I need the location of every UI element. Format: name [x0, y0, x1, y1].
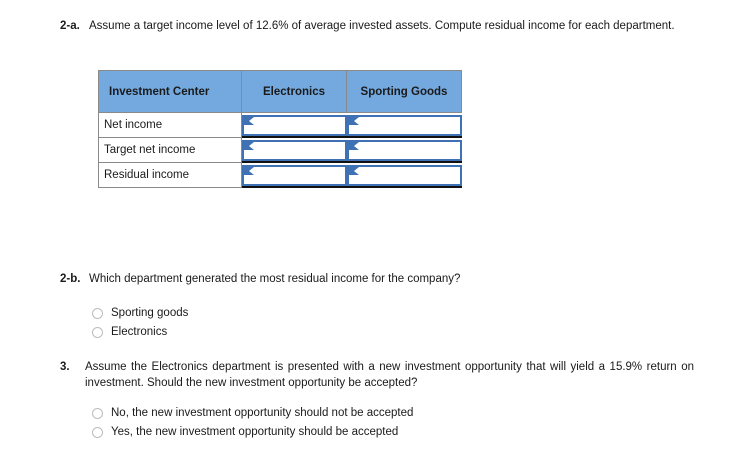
question-3: 3. Assume the Electronics department is …: [60, 360, 694, 391]
table-row: Net income: [99, 113, 462, 138]
options-group-3: No, the new investment opportunity shoul…: [92, 404, 413, 442]
question-2b: 2-b. Which department generated the most…: [60, 272, 530, 288]
column-header-sporting-goods: Sporting Goods: [347, 71, 462, 113]
input-net-income-electronics[interactable]: [252, 117, 343, 134]
input-box[interactable]: [347, 140, 462, 161]
option-label: Electronics: [111, 325, 167, 340]
input-box[interactable]: [242, 140, 347, 161]
row-label-target-net-income: Target net income: [99, 138, 242, 163]
question-2a-number: 2-a.: [60, 19, 89, 34]
radio-button-icon[interactable]: [92, 327, 103, 338]
cell-residual-income-electronics[interactable]: [242, 163, 347, 188]
option-electronics[interactable]: Electronics: [92, 323, 188, 342]
input-residual-income-electronics[interactable]: [252, 167, 343, 184]
table-row: Target net income: [99, 138, 462, 163]
question-2a-text: Assume a target income level of 12.6% of…: [89, 19, 682, 35]
option-yes-accept[interactable]: Yes, the new investment opportunity shou…: [92, 423, 413, 442]
cell-net-income-electronics[interactable]: [242, 113, 347, 138]
question-2b-number: 2-b.: [60, 272, 89, 287]
radio-button-icon[interactable]: [92, 408, 103, 419]
row-label-net-income: Net income: [99, 113, 242, 138]
column-header-electronics: Electronics: [242, 71, 347, 113]
input-residual-income-sporting-goods[interactable]: [357, 167, 458, 184]
cell-target-net-income-sporting-goods[interactable]: [347, 138, 462, 163]
question-3-number: 3.: [60, 360, 85, 375]
cell-target-net-income-electronics[interactable]: [242, 138, 347, 163]
input-box[interactable]: [242, 115, 347, 136]
table-body: Net income Target net income: [99, 113, 462, 188]
table-row: Residual income: [99, 163, 462, 188]
table-header-row: Investment Center Electronics Sporting G…: [99, 71, 462, 113]
input-net-income-sporting-goods[interactable]: [357, 117, 458, 134]
options-group-2b: Sporting goods Electronics: [92, 304, 188, 342]
input-box[interactable]: [242, 165, 347, 186]
row-label-residual-income: Residual income: [99, 163, 242, 188]
column-header-investment-center: Investment Center: [99, 71, 242, 113]
residual-income-table: Investment Center Electronics Sporting G…: [98, 70, 462, 188]
option-sporting-goods[interactable]: Sporting goods: [92, 304, 188, 323]
question-3-text: Assume the Electronics department is pre…: [85, 360, 694, 391]
option-label: Yes, the new investment opportunity shou…: [111, 425, 398, 440]
cell-net-income-sporting-goods[interactable]: [347, 113, 462, 138]
input-box[interactable]: [347, 165, 462, 186]
option-label: Sporting goods: [111, 306, 188, 321]
table-header: Investment Center Electronics Sporting G…: [99, 71, 462, 113]
option-label: No, the new investment opportunity shoul…: [111, 406, 413, 421]
question-2a: 2-a. Assume a target income level of 12.…: [60, 19, 682, 35]
input-target-net-income-sporting-goods[interactable]: [357, 142, 458, 159]
input-box[interactable]: [347, 115, 462, 136]
radio-button-icon[interactable]: [92, 427, 103, 438]
cell-residual-income-sporting-goods[interactable]: [347, 163, 462, 188]
option-no-reject[interactable]: No, the new investment opportunity shoul…: [92, 404, 413, 423]
radio-button-icon[interactable]: [92, 308, 103, 319]
question-2b-text: Which department generated the most resi…: [89, 272, 530, 288]
input-target-net-income-electronics[interactable]: [252, 142, 343, 159]
